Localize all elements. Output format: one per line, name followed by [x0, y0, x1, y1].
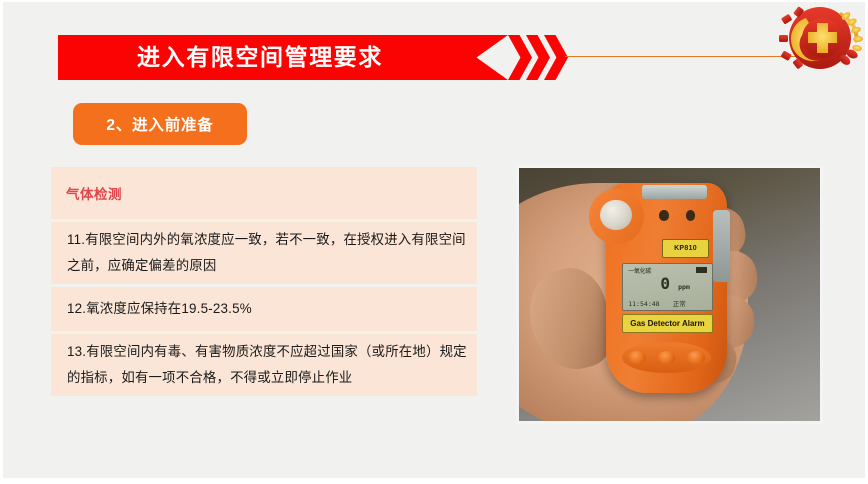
- device-key-icon: [658, 351, 676, 364]
- lcd-gas-name: 一氧化碳: [628, 266, 651, 275]
- content-item-11: 11.有限空间内外的氧浓度应一致，若不一致，在授权进入有限空间之前，应确定偏差的…: [51, 222, 477, 284]
- device-model-badge: KP810: [662, 239, 710, 258]
- chevron-right-icon: [508, 35, 532, 80]
- device-alarm-label: Gas Detector Alarm: [622, 314, 713, 333]
- lcd-time: 11:54:48: [628, 300, 659, 308]
- section-tab-button[interactable]: 2、进入前准备: [73, 103, 247, 145]
- gas-detection-heading-card: 气体检测: [51, 167, 477, 219]
- lcd-reading-unit: ppm: [678, 283, 690, 291]
- content-item-12-text: 12.氧浓度应保持在19.5-23.5%: [67, 296, 252, 322]
- device-key-icon: [687, 351, 705, 364]
- gas-detector-photo-frame: KP810 一氧化碳 0 ppm 11:54:48 正常 Gas Detecto…: [516, 165, 823, 424]
- slide-canvas: 进入有限空间管理要求: [0, 0, 868, 484]
- led-icon: [686, 210, 695, 220]
- content-item-11-text: 11.有限空间内外的氧浓度应一致，若不一致，在授权进入有限空间之前，应确定偏差的…: [67, 227, 469, 279]
- gas-detector-photo: KP810 一氧化碳 0 ppm 11:54:48 正常 Gas Detecto…: [519, 168, 820, 421]
- page-title: 进入有限空间管理要求: [58, 35, 462, 80]
- led-indicators: [659, 210, 695, 220]
- gas-detector-device: KP810 一氧化碳 0 ppm 11:54:48 正常 Gas Detecto…: [606, 183, 726, 393]
- device-side-strip: [713, 210, 730, 281]
- content-item-13: 13.有限空间内有毒、有害物质浓度不应超过国家（或所在地）规定的指标，如有一项不…: [51, 334, 477, 396]
- lcd-status: 正常: [673, 298, 686, 308]
- lcd-reading-value: 0: [660, 276, 670, 292]
- device-button-pad: [622, 342, 711, 373]
- gas-detection-heading-text: 气体检测: [66, 183, 122, 203]
- content-item-12: 12.氧浓度应保持在19.5-23.5%: [51, 287, 477, 331]
- work-safety-emblem-icon: [774, 4, 866, 72]
- device-key-icon: [628, 351, 646, 364]
- sensor-knob: [589, 189, 643, 244]
- battery-icon: [696, 267, 707, 273]
- title-banner: 进入有限空间管理要求: [58, 35, 508, 80]
- led-icon: [659, 210, 668, 220]
- sensor-mesh: [600, 200, 631, 231]
- content-item-13-text: 13.有限空间内有毒、有害物质浓度不应超过国家（或所在地）规定的指标，如有一项不…: [67, 339, 469, 391]
- device-lcd-screen: 一氧化碳 0 ppm 11:54:48 正常: [622, 263, 713, 311]
- device-vent: [642, 185, 707, 199]
- slide-bottom-edge: [3, 478, 865, 480]
- content-card-list: 气体检测 11.有限空间内外的氧浓度应一致，若不一致，在授权进入有限空间之前，应…: [51, 167, 477, 399]
